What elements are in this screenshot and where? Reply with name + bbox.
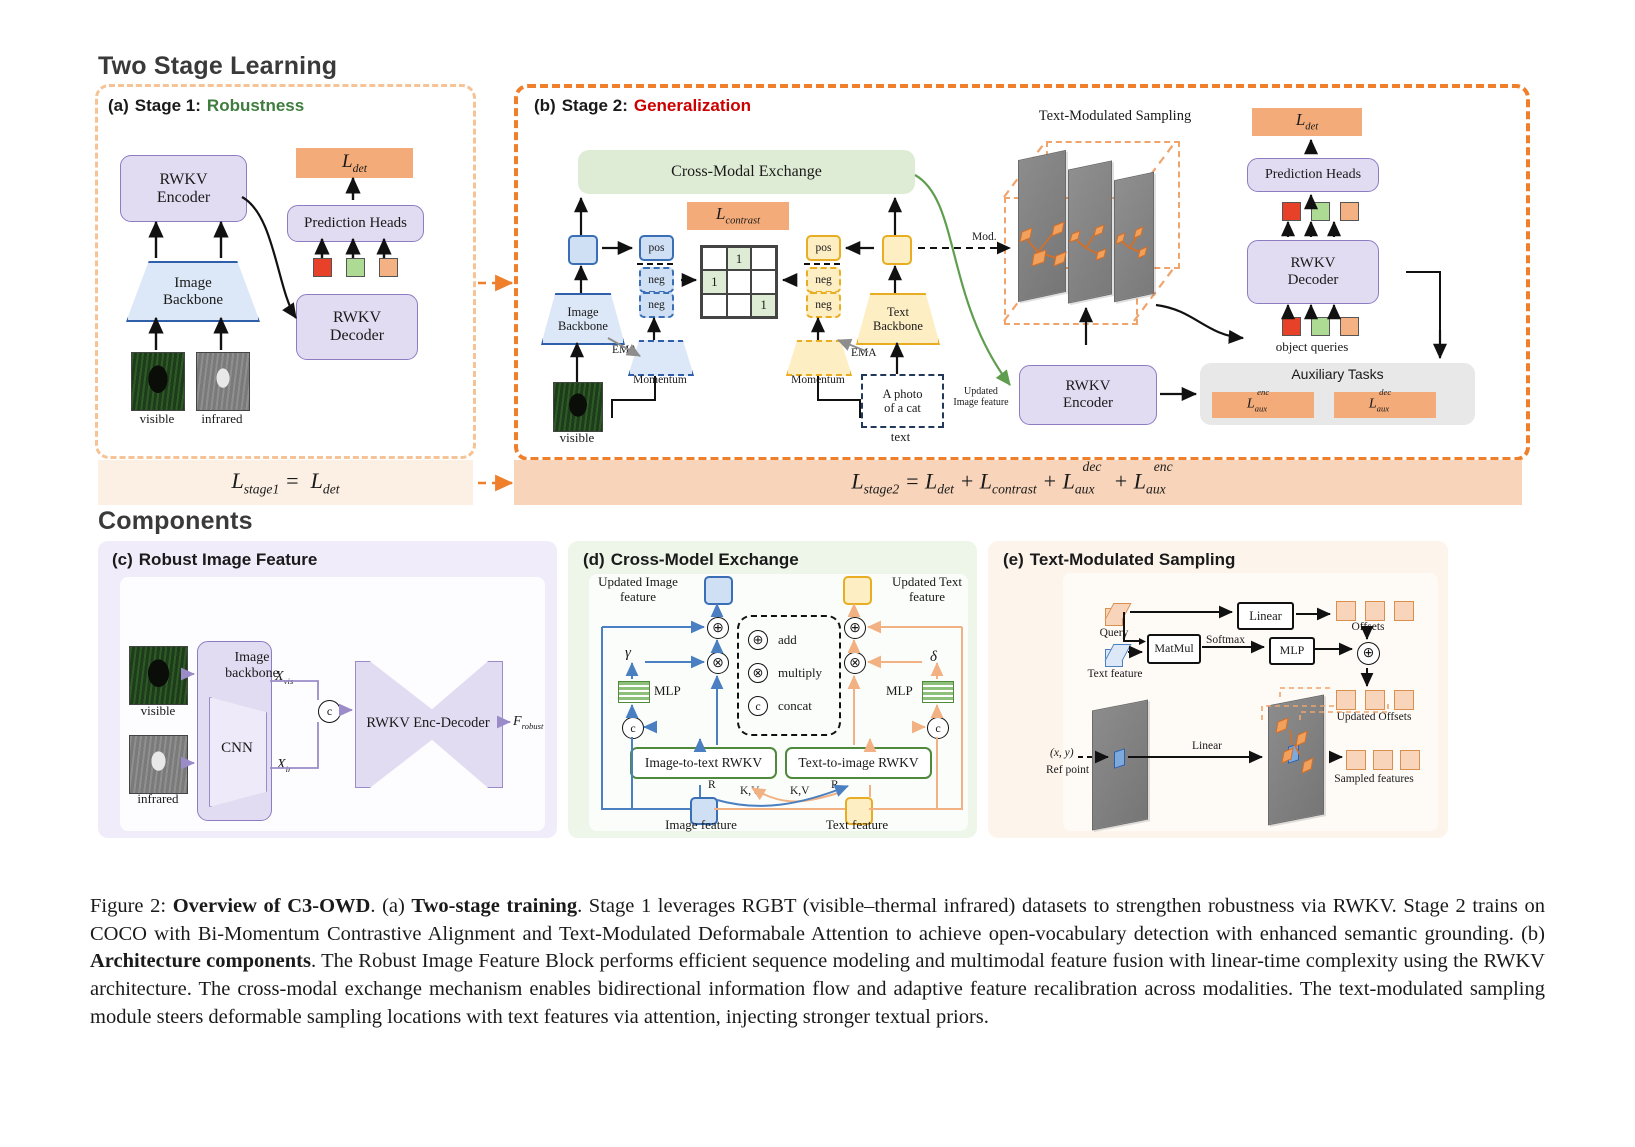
object-query-squares <box>1282 317 1359 336</box>
updated-text-feature-line2: feature <box>909 590 945 605</box>
loss-det-formula: Ldet <box>342 151 367 175</box>
neg-chip-text-2: neg <box>806 292 841 318</box>
panel-e-updated-offsets-row <box>1336 690 1414 710</box>
panel-d-legend-add-label: add <box>778 632 797 648</box>
matrix-cell-3-3: 1 <box>751 294 776 317</box>
head-square-green <box>346 258 365 277</box>
panel-d-image-to-text-rwkv: Image-to-text RWKV <box>630 747 777 779</box>
stage1-tag: (a) <box>108 96 129 116</box>
panel-d-add-left: ⊕ <box>707 617 729 639</box>
figure-caption: Figure 2: Overview of C3-OWD. (a) Two-st… <box>90 893 1545 1031</box>
panel-e-offsets-row <box>1336 601 1414 621</box>
panel-d-text-feature-label: Text feature <box>807 818 907 833</box>
rwkv-decoder-label-line2: Decoder <box>330 327 384 345</box>
panel-c-visible-label: visible <box>124 704 192 719</box>
head-square-red <box>313 258 332 277</box>
panel-e-ref-point-coord: (x, y) <box>1050 747 1074 759</box>
loss-aux-dec-box: Lauxdec <box>1334 392 1436 418</box>
panel-d-title: Cross-Model Exchange <box>611 550 799 570</box>
text-feature-chip <box>882 235 912 265</box>
momentum-text-label: Momentum <box>778 374 858 387</box>
neg-chip-image-1: neg <box>639 267 674 293</box>
panel-d-gamma-label: γ <box>625 645 631 662</box>
offset-square <box>1394 601 1414 621</box>
caption-text-1: . (a) <box>370 895 411 917</box>
head-square-tan <box>379 258 398 277</box>
loss-aux-enc-box: Lauxenc <box>1212 392 1314 418</box>
sampled-feature-cube <box>1373 750 1393 770</box>
panel-e-title: Text-Modulated Sampling <box>1030 550 1236 570</box>
stage1-infrared-image <box>196 352 250 411</box>
stage1-image-backbone: Image Backbone <box>126 261 260 322</box>
stage2-rwkv-encoder-line1: RWKV <box>1066 378 1111 395</box>
loss-contrast-formula: Lcontrast <box>716 204 760 227</box>
panel-c-f-robust-label: Frobust <box>513 714 543 731</box>
stage2-header: (b) Stage 2: Generalization <box>534 96 751 116</box>
stage1-title: Stage 1: <box>135 96 201 116</box>
updated-image-feature-label: Updated Image feature <box>944 386 1018 408</box>
auxiliary-tasks-title: Auxiliary Tasks <box>1200 367 1475 383</box>
matrix-cell-1-1 <box>702 247 727 270</box>
panel-c-title: Robust Image Feature <box>139 550 318 570</box>
text-modulated-sampling-title: Text-Modulated Sampling <box>1000 108 1230 124</box>
text-prompt-box: A photo of a cat <box>861 374 944 428</box>
stage2-text-label: text <box>861 430 940 445</box>
stage1-head-squares <box>313 258 398 277</box>
panel-d-legend-item-multiply: ⊗ multiply <box>748 663 822 683</box>
panel-c-concat-icon: c <box>318 700 341 723</box>
ema-label-right: EMA <box>851 347 877 359</box>
matrix-cell-3-2 <box>727 294 752 317</box>
stage1-loss-det: Ldet <box>296 148 413 178</box>
panel-d-header: (d) Cross-Model Exchange <box>583 550 799 570</box>
panel-d-multiply-left: ⊗ <box>707 652 729 674</box>
pos-chip-image: pos <box>639 235 674 261</box>
panel-c-tag: (c) <box>112 550 133 570</box>
object-query-tan <box>1340 317 1359 336</box>
offset-square <box>1336 601 1356 621</box>
object-query-red <box>1282 317 1301 336</box>
matrix-cell-3-1 <box>702 294 727 317</box>
pos-neg-divider-right <box>804 263 840 265</box>
matrix-cell-2-3 <box>751 270 776 293</box>
panel-c-header: (c) Robust Image Feature <box>112 550 317 570</box>
caption-bold-1: Overview of C3-OWD <box>173 895 371 917</box>
panel-e-linear-bottom-label: Linear <box>1192 740 1222 752</box>
prediction-heads-label: Prediction Heads <box>304 215 407 232</box>
cross-modal-exchange-block: Cross-Modal Exchange <box>578 150 915 194</box>
image-backbone-label-line1: Image <box>174 275 211 292</box>
head-square-green <box>1311 202 1330 221</box>
panel-d-updated-text-feature-label: Updated Text feature <box>875 575 979 604</box>
matrix-cell-2-2 <box>727 270 752 293</box>
panel-e-mlp-box: MLP <box>1269 637 1315 665</box>
stage2-loss-det: Ldet <box>1252 108 1362 136</box>
ema-label-left: EMA <box>612 344 638 356</box>
panel-d-image-feature-label: Image feature <box>651 818 751 833</box>
panel-e-softmax-label: Softmax <box>1206 634 1245 646</box>
panel-e-ref-point-label: Ref point <box>1046 764 1089 776</box>
sampling-plate-1 <box>1018 150 1066 302</box>
panel-e-ref-point-marker-2 <box>1288 743 1299 764</box>
text-prompt-line2: of a cat <box>884 401 921 415</box>
concat-icon: c <box>748 696 768 716</box>
loss-aux-enc-formula: Lauxenc <box>1247 395 1279 414</box>
matrix-cell-1-3 <box>751 247 776 270</box>
stage2-rwkv-decoder-line2: Decoder <box>1288 272 1339 289</box>
section-title-components: Components <box>98 507 253 536</box>
rwkv-encoder-label-line2: Encoder <box>157 189 210 207</box>
panel-c-backbone-line1: Image <box>235 650 270 666</box>
matrix-cell-1-2: 1 <box>727 247 752 270</box>
stage1-visible-image <box>131 352 185 411</box>
stage2-rwkv-encoder: RWKV Encoder <box>1019 365 1157 425</box>
updated-offset-square <box>1365 690 1385 710</box>
stage2-visible-label: visible <box>548 431 606 446</box>
panel-d-r-right-label: R <box>831 779 839 791</box>
pos-neg-divider-left <box>637 263 673 265</box>
panel-e-linear-top-box: Linear <box>1237 602 1294 630</box>
panel-c-infrared-label: infrared <box>120 792 196 807</box>
text-prompt-line1: A photo <box>883 387 923 401</box>
image-feature-chip <box>568 235 598 265</box>
panel-d-kv-right-label: K,V <box>790 785 810 797</box>
stage2-text-backbone-line2: Backbone <box>873 319 923 333</box>
panel-c-cnn-label: CNN <box>209 740 265 757</box>
panel-d-legend-concat-label: concat <box>778 698 812 714</box>
panel-c-x-vis-label: Xvis <box>275 669 293 686</box>
stage2-rwkv-decoder-line1: RWKV <box>1291 255 1336 272</box>
panel-d-updated-image-feature-label: Updated Image feature <box>583 575 693 604</box>
panel-d-updated-text-chip <box>843 576 872 605</box>
caption-bold-2: Two-stage training <box>411 895 577 917</box>
object-queries-label: object queries <box>1247 340 1377 355</box>
panel-e-sampled-features-row <box>1346 750 1420 770</box>
contrast-matrix: 111 <box>700 245 778 319</box>
panel-d-legend-item-add: ⊕ add <box>748 630 797 650</box>
stage2-text-backbone: Text Backbone <box>856 293 940 345</box>
panel-d-updated-image-chip <box>704 576 733 605</box>
stage2-visible-image <box>553 382 603 432</box>
offset-square <box>1365 601 1385 621</box>
section-title-two-stage-learning: Two Stage Learning <box>98 52 337 81</box>
stage1-rwkv-decoder: RWKV Decoder <box>296 294 418 360</box>
panel-d-mlp-right-icon <box>922 681 954 703</box>
panel-e-updated-offsets-label: Updated Offsets <box>1318 711 1430 724</box>
stage2-loss-bar: Lstage2 = Ldet + Lcontrast + Lauxdec+ La… <box>514 460 1522 505</box>
stage2-rwkv-encoder-line2: Encoder <box>1063 395 1113 412</box>
neg-chip-image-2: neg <box>639 292 674 318</box>
stage1-loss-bar: Lstage1 = Ldet <box>98 460 473 505</box>
stage2-loss-det-formula: Ldet <box>1296 110 1318 133</box>
panel-e-add-icon: ⊕ <box>1357 642 1380 665</box>
panel-e-query-label: Query <box>1082 627 1146 640</box>
sampling-plate-2 <box>1068 160 1112 303</box>
panel-d-legend-multiply-label: multiply <box>778 665 822 681</box>
panel-e-matmul-box: MatMul <box>1147 634 1201 664</box>
image-to-text-rwkv-label: Image-to-text RWKV <box>645 755 762 770</box>
matrix-cell-2-1: 1 <box>702 270 727 293</box>
updated-offset-square <box>1394 690 1414 710</box>
panel-c-backbone-line2: backbone <box>225 666 279 682</box>
updated-image-feature-line1: Updated <box>964 386 998 397</box>
panel-d-add-right: ⊕ <box>844 617 866 639</box>
stage1-keyword: Robustness <box>207 96 304 116</box>
caption-label: Figure 2: <box>90 895 166 917</box>
panel-e-header: (e) Text-Modulated Sampling <box>1003 550 1235 570</box>
panel-c-infrared-image <box>129 735 188 794</box>
sampling-plate-3 <box>1114 172 1154 303</box>
panel-d-mlp-right-label: MLP <box>886 683 913 699</box>
stage2-image-backbone-line2: Backbone <box>558 319 608 333</box>
rwkv-encoder-label-line1: RWKV <box>160 171 208 189</box>
panel-e-ref-point-marker <box>1114 748 1125 769</box>
mod-label: Mod. <box>972 231 997 243</box>
updated-image-feature-line2: Image feature <box>953 397 1008 408</box>
panel-c-image-backbone-label: Image backbone <box>192 650 312 681</box>
panel-d-kv-left-label: K,V <box>740 785 760 797</box>
stage1-loss-formula: Lstage1 = Ldet <box>231 469 339 497</box>
panel-d-r-left-label: R <box>708 779 716 791</box>
panel-d-mlp-left-icon <box>618 681 650 703</box>
panel-d-concat-left: c <box>622 717 644 739</box>
rwkv-decoder-label-line1: RWKV <box>333 309 381 327</box>
panel-d-multiply-right: ⊗ <box>844 652 866 674</box>
panel-e-offsets-label: Offsets <box>1333 621 1403 634</box>
stage2-prediction-heads-label: Prediction Heads <box>1265 167 1361 183</box>
loss-aux-dec-formula: Lauxdec <box>1369 395 1401 414</box>
panel-d-delta-label: δ <box>930 649 937 666</box>
stage2-text-backbone-line1: Text <box>887 305 909 319</box>
text-to-image-rwkv-label: Text-to-image RWKV <box>798 755 918 770</box>
stage2-loss-formula: Lstage2 = Ldet + Lcontrast + Lauxdec+ La… <box>851 468 1184 497</box>
sampled-feature-cube <box>1346 750 1366 770</box>
stage1-infrared-label: infrared <box>192 412 252 427</box>
text-modulated-sampling-box-back <box>1046 141 1180 269</box>
panel-d-tag: (d) <box>583 550 605 570</box>
stage2-tag: (b) <box>534 96 556 116</box>
panel-e-sampled-features-label: Sampled features <box>1318 773 1430 786</box>
updated-text-feature-line1: Updated Text <box>892 575 962 590</box>
panel-c-rwkv-enc-decoder-label: RWKV Enc-Decoder <box>352 715 504 731</box>
stage1-prediction-heads: Prediction Heads <box>287 205 424 242</box>
stage1-rwkv-encoder: RWKV Encoder <box>120 155 247 222</box>
panel-c-x-ir-label: Xir <box>277 757 291 774</box>
head-square-tan <box>1340 202 1359 221</box>
updated-offset-square <box>1336 690 1356 710</box>
panel-e-tag: (e) <box>1003 550 1024 570</box>
stage2-image-backbone-line1: Image <box>567 305 598 319</box>
object-query-green <box>1311 317 1330 336</box>
panel-d-legend-item-concat: c concat <box>748 696 812 716</box>
updated-image-feature-line2: feature <box>620 590 656 605</box>
stage2-head-squares <box>1282 202 1359 221</box>
panel-d-text-to-image-rwkv: Text-to-image RWKV <box>785 747 932 779</box>
stage2-prediction-heads: Prediction Heads <box>1247 158 1379 192</box>
neg-chip-text-1: neg <box>806 267 841 293</box>
add-icon: ⊕ <box>748 630 768 650</box>
stage2-image-backbone: Image Backbone <box>541 293 625 345</box>
stage2-rwkv-decoder: RWKV Decoder <box>1247 240 1379 304</box>
panel-d-concat-right: c <box>927 717 949 739</box>
pos-chip-text: pos <box>806 235 841 261</box>
stage2-loss-contrast: Lcontrast <box>687 202 789 230</box>
cross-modal-exchange-label: Cross-Modal Exchange <box>671 163 822 181</box>
momentum-text-encoder <box>786 340 852 376</box>
panel-e-text-feature-label: Text feature <box>1072 668 1158 681</box>
momentum-image-label: Momentum <box>620 374 700 387</box>
head-square-red <box>1282 202 1301 221</box>
stage1-header: (a) Stage 1: Robustness <box>108 96 304 116</box>
sampled-feature-cube <box>1400 750 1420 770</box>
stage2-keyword: Generalization <box>634 96 751 116</box>
stage2-title: Stage 2: <box>562 96 628 116</box>
panel-c-visible-image <box>129 646 188 705</box>
panel-d-mlp-left-label: MLP <box>654 683 681 699</box>
stage1-visible-label: visible <box>131 412 183 427</box>
image-backbone-label-line2: Backbone <box>163 292 223 309</box>
caption-bold-3: Architecture components <box>90 950 311 972</box>
updated-image-feature-line1: Updated Image <box>598 575 678 590</box>
multiply-icon: ⊗ <box>748 663 768 683</box>
